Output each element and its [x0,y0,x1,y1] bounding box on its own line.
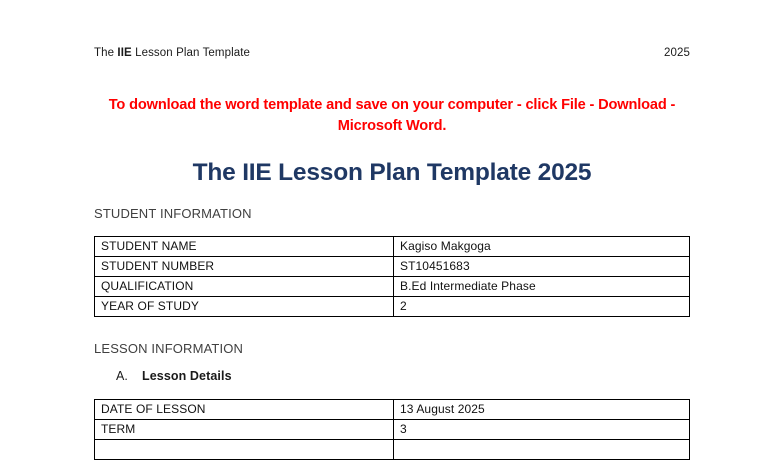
table-row: YEAR OF STUDY 2 [95,297,690,317]
field-label: QUALIFICATION [95,277,394,297]
student-information-table: STUDENT NAME Kagiso Makgoga STUDENT NUMB… [94,236,690,317]
header-title-iie: IIE [117,47,131,59]
header-year: 2025 [664,47,690,59]
table-row: DATE OF LESSON 13 August 2025 [95,400,690,420]
field-label: DATE OF LESSON [95,400,394,420]
document-page: The IIE Lesson Plan Template 2025 To dow… [0,0,784,441]
lesson-details-table: DATE OF LESSON 13 August 2025 TERM 3 [94,399,690,460]
header-title-suffix: Lesson Plan Template [132,47,250,59]
field-label: STUDENT NUMBER [95,257,394,277]
field-value[interactable]: ST10451683 [394,257,690,277]
subsection-lesson-details: A. Lesson Details [116,369,232,383]
section-heading-student-information: STUDENT INFORMATION [94,206,252,221]
field-label: YEAR OF STUDY [95,297,394,317]
page-title: The IIE Lesson Plan Template 2025 [94,158,690,188]
table-row: TERM 3 [95,420,690,440]
table-row: STUDENT NUMBER ST10451683 [95,257,690,277]
field-value[interactable]: Kagiso Makgoga [394,237,690,257]
section-heading-lesson-information: LESSON INFORMATION [94,341,243,356]
field-label: TERM [95,420,394,440]
header-title-prefix: The [94,47,117,59]
field-value[interactable] [394,440,690,460]
list-item-label: Lesson Details [142,369,232,383]
field-value[interactable]: B.Ed Intermediate Phase [394,277,690,297]
field-value[interactable]: 3 [394,420,690,440]
field-value[interactable]: 2 [394,297,690,317]
field-value[interactable]: 13 August 2025 [394,400,690,420]
download-instruction-notice: To download the word template and save o… [94,95,690,137]
table-row: STUDENT NAME Kagiso Makgoga [95,237,690,257]
table-row [95,440,690,460]
header-title: The IIE Lesson Plan Template [94,47,250,59]
table-row: QUALIFICATION B.Ed Intermediate Phase [95,277,690,297]
field-label [95,440,394,460]
document-running-header: The IIE Lesson Plan Template 2025 [94,47,690,59]
field-label: STUDENT NAME [95,237,394,257]
list-marker: A. [116,369,142,383]
